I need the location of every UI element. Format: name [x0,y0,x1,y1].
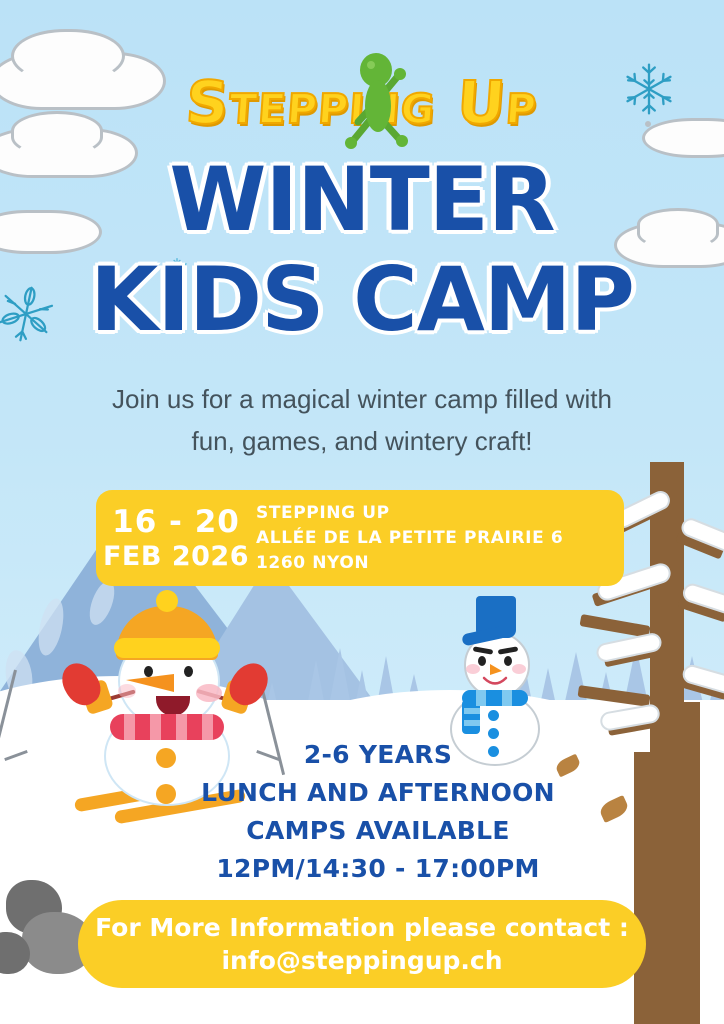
details-sessions-line1: LUNCH AND AFTERNOON [152,774,604,812]
snowman-cheek [196,684,222,702]
scarf-stripe [464,708,480,714]
scarf-stripe [464,720,480,726]
contact-banner[interactable]: For More Information please contact : in… [78,900,646,988]
contact-email[interactable]: info@steppingup.ch [221,944,502,977]
address-line2: ALLÉE DE LA PETITE PRAIRIE 6 [256,526,563,551]
tree-trunk [682,702,700,1024]
address-line1: STEPPING UP [256,501,563,526]
event-info-banner: 16 - 20 FEB 2026 STEPPING UP ALLÉE DE LA… [96,490,624,586]
snowman-cheek [466,664,480,674]
scarf-stripe [476,690,486,706]
address-line3: 1260 NYON [256,551,563,576]
beanie-pompom [156,590,178,612]
event-date-month: FEB 2026 [96,540,256,573]
event-address: STEPPING UP ALLÉE DE LA PETITE PRAIRIE 6… [256,501,563,576]
subtitle-line2: fun, games, and wintery craft! [62,420,662,462]
page-title-line2: KIDS CAMP [0,252,724,348]
winter-kids-camp-poster: Stepping Up WINTER KIDS CAMP Join us for… [0,0,724,1024]
event-date: 16 - 20 FEB 2026 [96,504,256,573]
snowman-mouth [482,676,508,690]
camp-details: 2-6 YEARS LUNCH AND AFTERNOON CAMPS AVAI… [152,736,604,888]
details-times: 12PM/14:30 - 17:00PM [152,850,604,888]
tree-trunk [650,462,684,1024]
snowman-eye [504,656,512,666]
scarf-stripe [124,714,135,740]
carrot-nose [126,672,176,698]
page-title-line1: WINTER [0,152,724,248]
snowman-eye [478,656,486,666]
green-mascot-icon [330,48,426,158]
snowman-eye [184,666,193,677]
event-date-range: 16 - 20 [96,504,256,540]
tree-branch [578,685,651,707]
snowman-button [488,710,499,721]
snowman-cheek [512,664,526,674]
beanie-brim [114,638,220,658]
details-age: 2-6 YEARS [152,736,604,774]
contact-prompt: For More Information please contact : [95,911,629,944]
details-sessions-line2: CAMPS AVAILABLE [152,812,604,850]
tree-trunk [634,752,654,1024]
scarf-stripe [502,690,512,706]
subtitle: Join us for a magical winter camp filled… [62,378,662,462]
subtitle-line1: Join us for a magical winter camp filled… [62,378,662,420]
